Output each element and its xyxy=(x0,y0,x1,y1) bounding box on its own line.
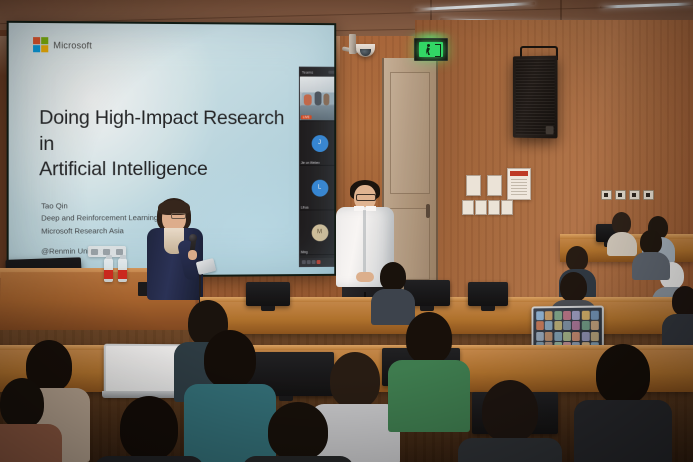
wall-outlet-1[interactable] xyxy=(601,190,612,200)
water-bottle-1 xyxy=(104,258,113,282)
exit-sign xyxy=(414,38,448,61)
wall-notice-4 xyxy=(475,200,487,215)
water-bottle-2 xyxy=(118,258,127,282)
wall-notice-6 xyxy=(501,200,513,215)
wall-notice-3 xyxy=(462,200,474,215)
door-handle[interactable] xyxy=(426,204,430,218)
evacuation-plan-poster xyxy=(507,168,531,200)
wall-outlet-3[interactable] xyxy=(629,190,640,200)
audience-monitor-2 xyxy=(246,282,290,306)
eyeglasses-icon xyxy=(356,194,376,201)
wall-notice-1 xyxy=(466,175,481,196)
ceiling-light-3 xyxy=(600,2,693,8)
camera-arm xyxy=(349,34,356,54)
eyeglasses-icon xyxy=(171,213,186,219)
tablet-device[interactable] xyxy=(196,258,217,275)
lecture-hall-photo: Microsoft Doing High-Impact Research in … xyxy=(0,0,693,462)
wall-notice-2 xyxy=(487,175,502,196)
toolbar-icon-3[interactable] xyxy=(116,249,123,255)
wall-outlet-2[interactable] xyxy=(615,190,626,200)
toolbar-icon-2[interactable] xyxy=(103,249,110,255)
audience-monitor-4 xyxy=(468,282,508,306)
wall-speaker xyxy=(513,56,558,139)
wall-outlet-4[interactable] xyxy=(643,190,654,200)
running-person-icon xyxy=(426,44,431,55)
toolbar-icon-1[interactable] xyxy=(91,249,98,255)
wall-notice-5 xyxy=(488,200,500,215)
